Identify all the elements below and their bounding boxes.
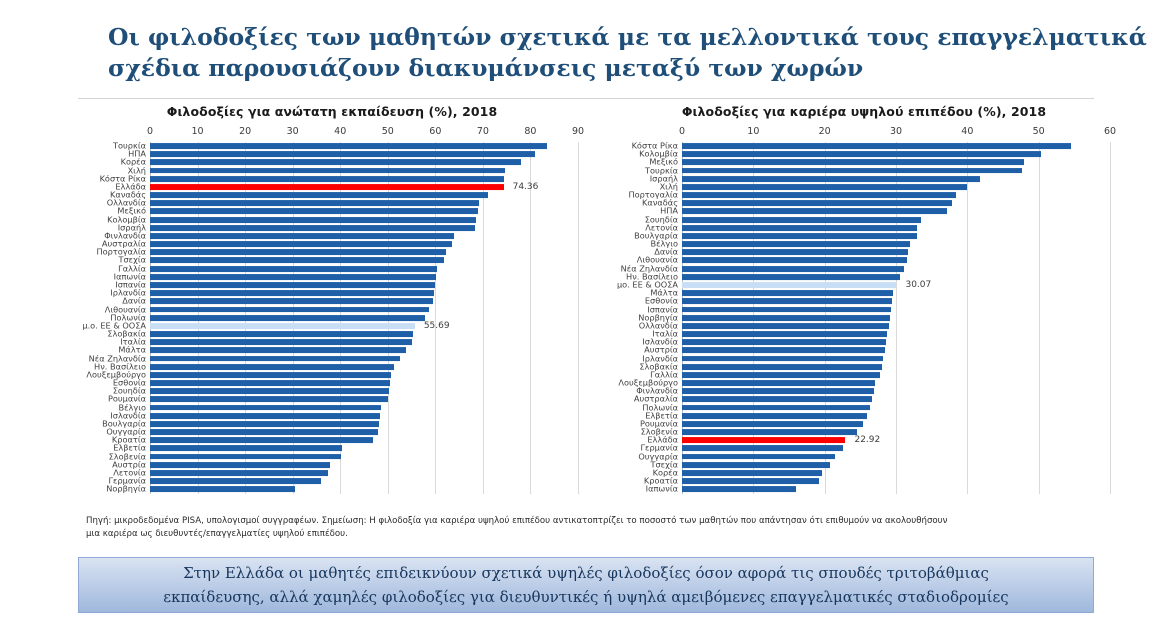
bar-row: Σουηδία [682,216,1110,224]
x-axis-left: 0102030405060708090 [150,126,578,142]
bar [150,380,390,386]
bar [682,356,883,362]
x-axis-tick-left: 10 [192,126,204,137]
bar-row: Μεξικό [150,207,578,215]
bar-row: Λιθουανία [682,256,1110,264]
bar: 55.69 [150,323,415,329]
bar-row: Εσθονία [682,297,1110,305]
x-axis-tick-left: 50 [382,126,394,137]
bar-row: Σουηδία [150,387,578,395]
x-axis-tick-left: 20 [239,126,251,137]
bar-row: Πολωνία [682,404,1110,412]
bar [150,315,425,321]
chart-body-right: 0102030405060 Κόστα ΡίκαΚολομβίαΜεξικόΤο… [610,126,1118,494]
bar-row: Ελβετία [150,444,578,452]
bar-row: Ελλάδα74.36 [150,183,578,191]
bar [150,413,380,419]
page-title: Οι φιλοδοξίες των μαθητών σχετικά με τα … [108,22,1088,84]
bar-row: Ουγγαρία [150,428,578,436]
x-axis-tick-left: 0 [147,126,153,137]
bar [150,396,388,402]
bar [682,307,891,313]
bar [150,241,452,247]
slide-root: Οι φιλοδοξίες των μαθητών σχετικά με τα … [0,0,1172,620]
bar-row: Χιλή [150,167,578,175]
bar-row: Μεξικό [682,158,1110,166]
bar [682,339,886,345]
bar-row: Σλοβακία [682,363,1110,371]
bar: 74.36 [150,184,504,190]
bar [150,356,400,362]
bar [682,347,885,353]
bar-row: Ελβετία [682,412,1110,420]
bar [682,274,900,280]
bar: 22.92 [682,437,845,443]
bar [150,339,412,345]
bar-row: Γερμανία [150,477,578,485]
plot-area-left: ΤουρκίαΗΠΑΚορέαΧιλήΚόστα ΡίκαΕλλάδα74.36… [150,142,578,494]
x-axis-tick-right: 0 [679,126,685,137]
category-label: Ιαπωνία [646,485,678,494]
bar-row: Ισπανία [682,305,1110,313]
bar [682,298,892,304]
x-axis-tick-right: 60 [1104,126,1116,137]
x-axis-tick-left: 30 [287,126,299,137]
bar-row: Χιλή [682,183,1110,191]
bar-row: Ιταλία [682,330,1110,338]
bar-row: Κόστα Ρίκα [682,142,1110,150]
bar-row: Πορτογαλία [682,191,1110,199]
bar [682,323,889,329]
bar-row: Σλοβενία [682,428,1110,436]
bar [150,151,535,157]
bar-row: Τσεχία [150,256,578,264]
x-axis-tick-right: 50 [1033,126,1045,137]
bar-row: Κολομβία [150,216,578,224]
bar-row: Τουρκία [150,142,578,150]
bar-row: Κροατία [150,436,578,444]
bar-row: Φινλανδία [150,232,578,240]
bar-row: Ολλανδία [682,322,1110,330]
bar [150,454,341,460]
bar-row: Λουξεμβούργο [682,379,1110,387]
bar [682,233,917,239]
bar [150,421,379,427]
bar-row: Νορβηγία [150,485,578,493]
bar-row: Ιαπωνία [150,273,578,281]
bar-row: μ.ο. ΕΕ & ΟΟΣΑ55.69 [150,322,578,330]
bar [682,486,796,492]
chart-panel-tertiary-education: Φιλοδοξίες για ανώτατη εκπαίδευση (%), 2… [78,104,586,504]
bar-row: Γερμανία [682,444,1110,452]
bar [682,258,907,264]
source-footnote-line-2: μια καριέρα ως διευθυντές/επαγγελματίες … [86,528,1096,541]
bar [682,249,908,255]
bar [150,298,433,304]
bar-row: Ρουμανία [682,420,1110,428]
bar [150,470,328,476]
bar-rows-right: Κόστα ΡίκαΚολομβίαΜεξικόΤουρκίαΙσραήλΧιλ… [682,142,1110,494]
bar-row: ΗΠΑ [682,207,1110,215]
page-title-line-2: σχέδια παρουσιάζουν διακυμάνσεις μεταξύ … [108,53,1088,84]
bar-row: μο. ΕΕ & ΟΟΣΑ30.07 [682,281,1110,289]
chart-title-right: Φιλοδοξίες για καριέρα υψηλού επιπέδου (… [610,104,1118,120]
bar-row: Αυστραλία [150,240,578,248]
bar-rows-left: ΤουρκίαΗΠΑΚορέαΧιλήΚόστα ΡίκαΕλλάδα74.36… [150,142,578,494]
bar [150,429,378,435]
bar [682,454,835,460]
bar-row: Σλοβακία [150,330,578,338]
bar [682,168,1022,174]
key-message-line-1: Στην Ελλάδα οι μαθητές επιδεικνύουν σχετ… [183,561,989,585]
bar-row: Γαλλία [150,265,578,273]
bar [150,176,504,182]
bar [682,266,904,272]
x-axis-tick-right: 40 [961,126,973,137]
bar-row: Ισλανδία [682,338,1110,346]
bar [682,200,952,206]
chart-title-left: Φιλοδοξίες για ανώτατη εκπαίδευση (%), 2… [78,104,586,120]
bar-row: Ην. Βασίλειο [150,363,578,371]
bar [150,331,413,337]
bar-row: Λετονία [682,224,1110,232]
bar [150,388,389,394]
bar-row: Κολομβία [682,150,1110,158]
bar-row: Τσεχία [682,461,1110,469]
chart-panel-high-status-career: Φιλοδοξίες για καριέρα υψηλού επιπέδου (… [610,104,1118,504]
title-divider [78,98,1094,99]
bar [150,217,476,223]
bar [682,470,822,476]
x-axis-tick-left: 40 [334,126,346,137]
bar [682,159,1024,165]
bar [682,192,956,198]
bar-row: Κορέα [682,469,1110,477]
bar [150,192,488,198]
bar [150,364,394,370]
bar-row: Κορέα [150,158,578,166]
x-axis-tick-left: 90 [572,126,584,137]
bar [682,331,887,337]
bar-row: Νέα Ζηλανδία [682,265,1110,273]
bar-row: Νορβηγία [682,314,1110,322]
bar-row: Νέα Ζηλανδία [150,354,578,362]
bar-row: Δανία [682,248,1110,256]
bar [150,282,435,288]
bar [150,478,321,484]
bar [150,372,391,378]
bar-row: Αυστρία [682,346,1110,354]
bar-row: Καναδάς [682,199,1110,207]
bar [150,462,330,468]
bar [682,413,867,419]
bar-row: Ουγγαρία [682,453,1110,461]
bar-row: Τουρκία [682,167,1110,175]
page-title-line-1: Οι φιλοδοξίες των μαθητών σχετικά με τα … [108,22,1088,53]
bar [150,209,478,215]
bar-row: Γαλλία [682,371,1110,379]
x-axis-tick-right: 20 [819,126,831,137]
bar-row: Λουξεμβούργο [150,371,578,379]
bar-row: Ισραήλ [150,224,578,232]
bar-row: Ιρλανδία [682,354,1110,362]
bar [682,380,875,386]
bar [682,209,947,215]
bar [150,159,521,165]
bar [682,478,819,484]
bar-row: Πορτογαλία [150,248,578,256]
source-footnote-line-1: Πηγή: μικροδεδομένα PISA, υπολογισμοί συ… [86,515,1096,528]
gridline [1110,142,1111,494]
bar-row: Λετονία [150,469,578,477]
bar [682,143,1071,149]
bar-row: Ιαπωνία [682,485,1110,493]
bar [682,462,830,468]
bar [150,274,436,280]
bar-row: Σλοβενία [150,453,578,461]
key-message-banner: Στην Ελλάδα οι μαθητές επιδεικνύουν σχετ… [78,557,1094,613]
bar-row: Βουλγαρία [682,232,1110,240]
bar-row: Ισπανία [150,281,578,289]
bar [150,258,444,264]
bar [682,396,872,402]
x-axis-right: 0102030405060 [682,126,1110,142]
bar [682,184,967,190]
bar-row: Ιταλία [150,338,578,346]
bar [150,233,454,239]
bar [150,446,342,452]
x-axis-tick-left: 60 [429,126,441,137]
bar [150,266,437,272]
bar [150,200,479,206]
bar: 30.07 [682,282,896,288]
bar-row: Ελλάδα22.92 [682,436,1110,444]
bar [682,372,880,378]
bar-row: Ην. Βασίλειο [682,273,1110,281]
bar [682,446,843,452]
bar [682,429,857,435]
bar-row: Ρουμανία [150,395,578,403]
bar-row: Αυστραλία [682,395,1110,403]
x-axis-tick-left: 80 [524,126,536,137]
bar [682,241,910,247]
bar-row: Ιρλανδία [150,289,578,297]
bar [682,364,882,370]
bar-row: Δανία [150,297,578,305]
bar-row: Μάλτα [150,346,578,354]
bar [150,249,446,255]
bar [682,151,1041,157]
bar-row: Κροατία [682,477,1110,485]
x-axis-tick-right: 10 [747,126,759,137]
bar-row: Φινλανδία [682,387,1110,395]
plot-area-right: Κόστα ΡίκαΚολομβίαΜεξικόΤουρκίαΙσραήλΧιλ… [682,142,1110,494]
bar-row: Μάλτα [682,289,1110,297]
key-message-line-2: εκπαίδευσης, αλλά χαμηλές φιλοδοξίες για… [163,585,1008,609]
category-label: Νορβηγία [106,485,146,494]
bar [150,307,429,313]
bar [150,347,406,353]
bar [682,388,874,394]
bar-row: Αυστρία [150,461,578,469]
bar-row: Βέλγιο [682,240,1110,248]
bar [150,143,547,149]
bar [682,225,917,231]
bar-row: Πολωνία [150,314,578,322]
source-footnote: Πηγή: μικροδεδομένα PISA, υπολογισμοί συ… [86,515,1096,540]
bar [150,290,434,296]
bar-row: Βέλγιο [150,404,578,412]
bar-row: Εσθονία [150,379,578,387]
bar [150,437,373,443]
bar [150,168,505,174]
gridline [578,142,579,494]
bar-row: Ολλανδία [150,199,578,207]
bar [682,421,863,427]
bar [682,315,890,321]
chart-body-left: 0102030405060708090 ΤουρκίαΗΠΑΚορέαΧιλήΚ… [78,126,586,494]
bar [682,290,893,296]
bar [682,217,921,223]
bar-row: Ισραήλ [682,175,1110,183]
x-axis-tick-right: 30 [890,126,902,137]
bar-row: Ισλανδία [150,412,578,420]
bar-row: ΗΠΑ [150,150,578,158]
bar-row: Λιθουανία [150,305,578,313]
bar [150,486,295,492]
x-axis-tick-left: 70 [477,126,489,137]
bar [150,405,381,411]
bar [682,405,870,411]
bar [150,225,475,231]
bar-row: Βουλγαρία [150,420,578,428]
bar-row: Καναδάς [150,191,578,199]
bar [682,176,980,182]
